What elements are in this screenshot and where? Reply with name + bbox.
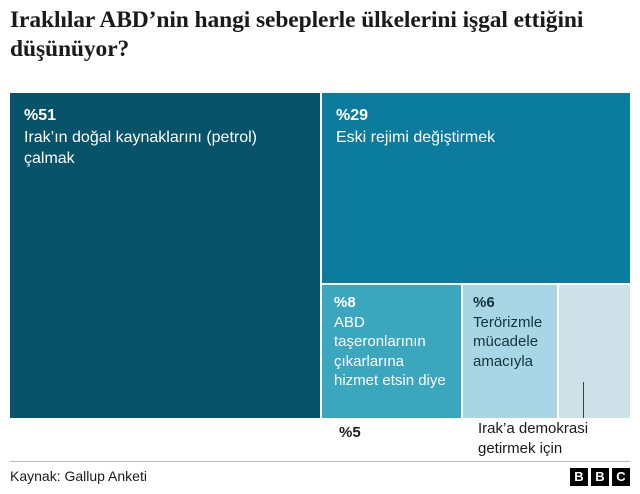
source-note: Kaynak: Gallup Anketi xyxy=(10,468,147,484)
treemap-outside-label-democracy: Irak’a demokrasi getirmek için xyxy=(478,419,638,458)
treemap-cell-contractors[interactable]: %8 ABD taşeronlarının çıkarlarına hizmet… xyxy=(322,285,461,418)
footer-divider xyxy=(10,461,630,462)
treemap-outside-percent-5: %5 xyxy=(339,424,361,443)
bbc-logo: B B C xyxy=(570,468,630,486)
chart-page: Iraklılar ABD’nin hangi sebeplerle ülkel… xyxy=(0,0,640,494)
treemap-cell-percent: %29 xyxy=(336,105,616,127)
bbc-logo-letter-2: B xyxy=(591,468,609,486)
treemap-cell-percent: %8 xyxy=(334,293,451,313)
treemap-chart: %51 Irak’ın doğal kaynaklarını (petrol) … xyxy=(10,93,630,418)
treemap-cell-democracy[interactable] xyxy=(559,285,630,418)
treemap-cell-terrorism[interactable]: %6 Terörizmle mücadele amacıyla xyxy=(463,285,557,418)
bbc-logo-letter-1: B xyxy=(570,468,588,486)
page-title: Iraklılar ABD’nin hangi sebeplerle ülkel… xyxy=(10,6,628,63)
treemap-cell-label: Terörizmle mücadele amacıyla xyxy=(473,313,551,372)
treemap-cell-label: Eski rejimi değiştirmek xyxy=(336,127,616,149)
treemap-cell-label: Irak’ın doğal kaynaklarını (petrol) çalm… xyxy=(24,127,306,170)
treemap-cell-percent: %51 xyxy=(24,105,306,127)
treemap-cell-percent: %6 xyxy=(473,293,551,313)
treemap-cell-label: ABD taşeronlarının çıkarlarına hizmet et… xyxy=(334,313,451,391)
bbc-logo-letter-3: C xyxy=(612,468,630,486)
treemap-cell-petrol[interactable]: %51 Irak’ın doğal kaynaklarını (petrol) … xyxy=(10,93,320,418)
treemap-cell-regime-change[interactable]: %29 Eski rejimi değiştirmek xyxy=(322,93,630,283)
leader-line-democracy xyxy=(583,382,584,418)
